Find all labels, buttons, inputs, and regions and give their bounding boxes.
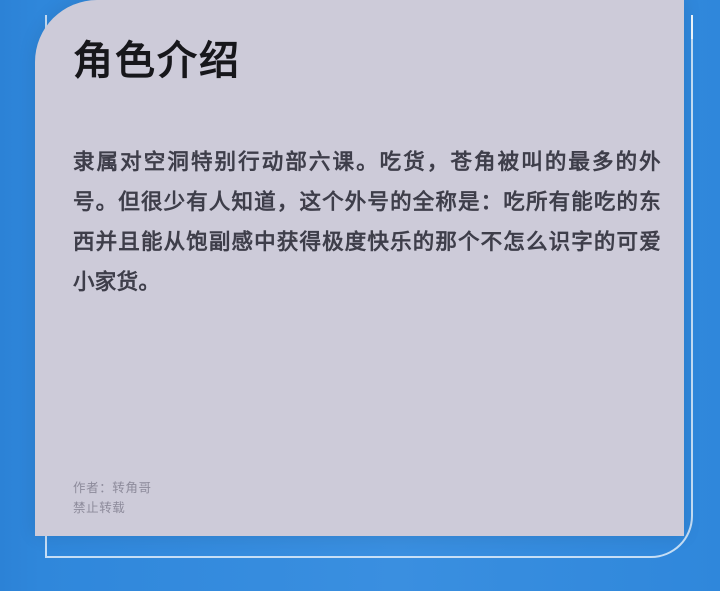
decorative-frame-top-stub [691, 15, 693, 39]
card-content: 角色介绍 隶属对空洞特别行动部六课。吃货，苍角被叫的最多的外号。但很少有人知道，… [35, 0, 684, 536]
author-label: 作者：转角哥 [73, 478, 152, 498]
reprint-notice-label: 禁止转载 [73, 498, 152, 518]
page-title: 角色介绍 [73, 38, 648, 84]
character-intro-card: 角色介绍 隶属对空洞特别行动部六课。吃货，苍角被叫的最多的外号。但很少有人知道，… [35, 0, 684, 536]
description-paragraph: 隶属对空洞特别行动部六课。吃货，苍角被叫的最多的外号。但很少有人知道，这个外号的… [73, 142, 661, 302]
footer-credits: 作者：转角哥 禁止转载 [73, 478, 152, 518]
character-description: 隶属对空洞特别行动部六课。吃货，苍角被叫的最多的外号。但很少有人知道，这个外号的… [73, 142, 661, 302]
